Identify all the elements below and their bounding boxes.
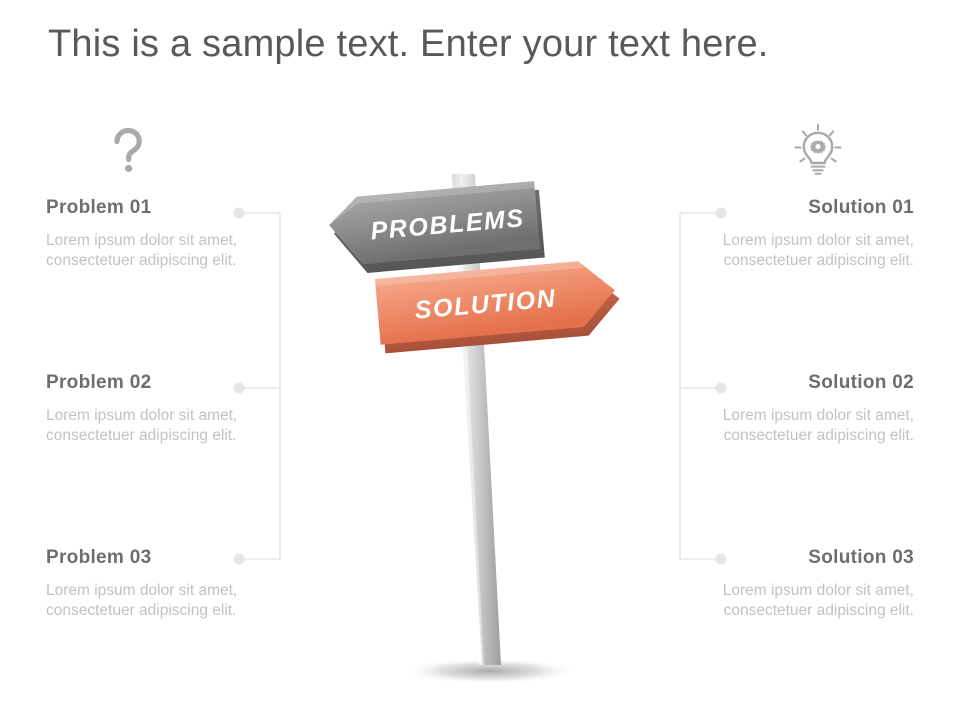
question-mark-icon	[96, 118, 160, 182]
problems-sign: PROBLEMS	[327, 181, 545, 276]
solution-item-2-description: Lorem ipsum dolor sit amet, consectetuer…	[664, 406, 914, 445]
page-title: This is a sample text. Enter your text h…	[48, 22, 928, 68]
solution-item-1-title: Solution 01	[664, 198, 914, 219]
solution-item-3-title: Solution 03	[664, 548, 914, 569]
solution-sign: SOLUTION	[375, 258, 623, 354]
problem-item-3-description: Lorem ipsum dolor sit amet, consectetuer…	[46, 581, 296, 620]
problem-item-3[interactable]: Problem 03 Lorem ipsum dolor sit amet, c…	[46, 548, 296, 620]
problem-item-2-description: Lorem ipsum dolor sit amet, consectetuer…	[46, 406, 296, 445]
problem-item-1-title: Problem 01	[46, 198, 296, 219]
solution-item-1-description: Lorem ipsum dolor sit amet, consectetuer…	[664, 231, 914, 270]
problem-item-2-title: Problem 02	[46, 373, 296, 394]
solution-item-2[interactable]: Solution 02 Lorem ipsum dolor sit amet, …	[664, 373, 914, 445]
slide-canvas: This is a sample text. Enter your text h…	[0, 0, 960, 720]
solution-item-1[interactable]: Solution 01 Lorem ipsum dolor sit amet, …	[664, 198, 914, 270]
solution-item-3-description: Lorem ipsum dolor sit amet, consectetuer…	[664, 581, 914, 620]
problem-item-2[interactable]: Problem 02 Lorem ipsum dolor sit amet, c…	[46, 373, 296, 445]
signpost-graphic: PROBLEMS SOLUTION	[300, 150, 660, 695]
lightbulb-idea-icon	[786, 118, 850, 182]
solution-item-2-title: Solution 02	[664, 373, 914, 394]
problem-item-1[interactable]: Problem 01 Lorem ipsum dolor sit amet, c…	[46, 198, 296, 270]
problem-item-1-description: Lorem ipsum dolor sit amet, consectetuer…	[46, 231, 296, 270]
solution-item-3[interactable]: Solution 03 Lorem ipsum dolor sit amet, …	[664, 548, 914, 620]
problem-item-3-title: Problem 03	[46, 548, 296, 569]
